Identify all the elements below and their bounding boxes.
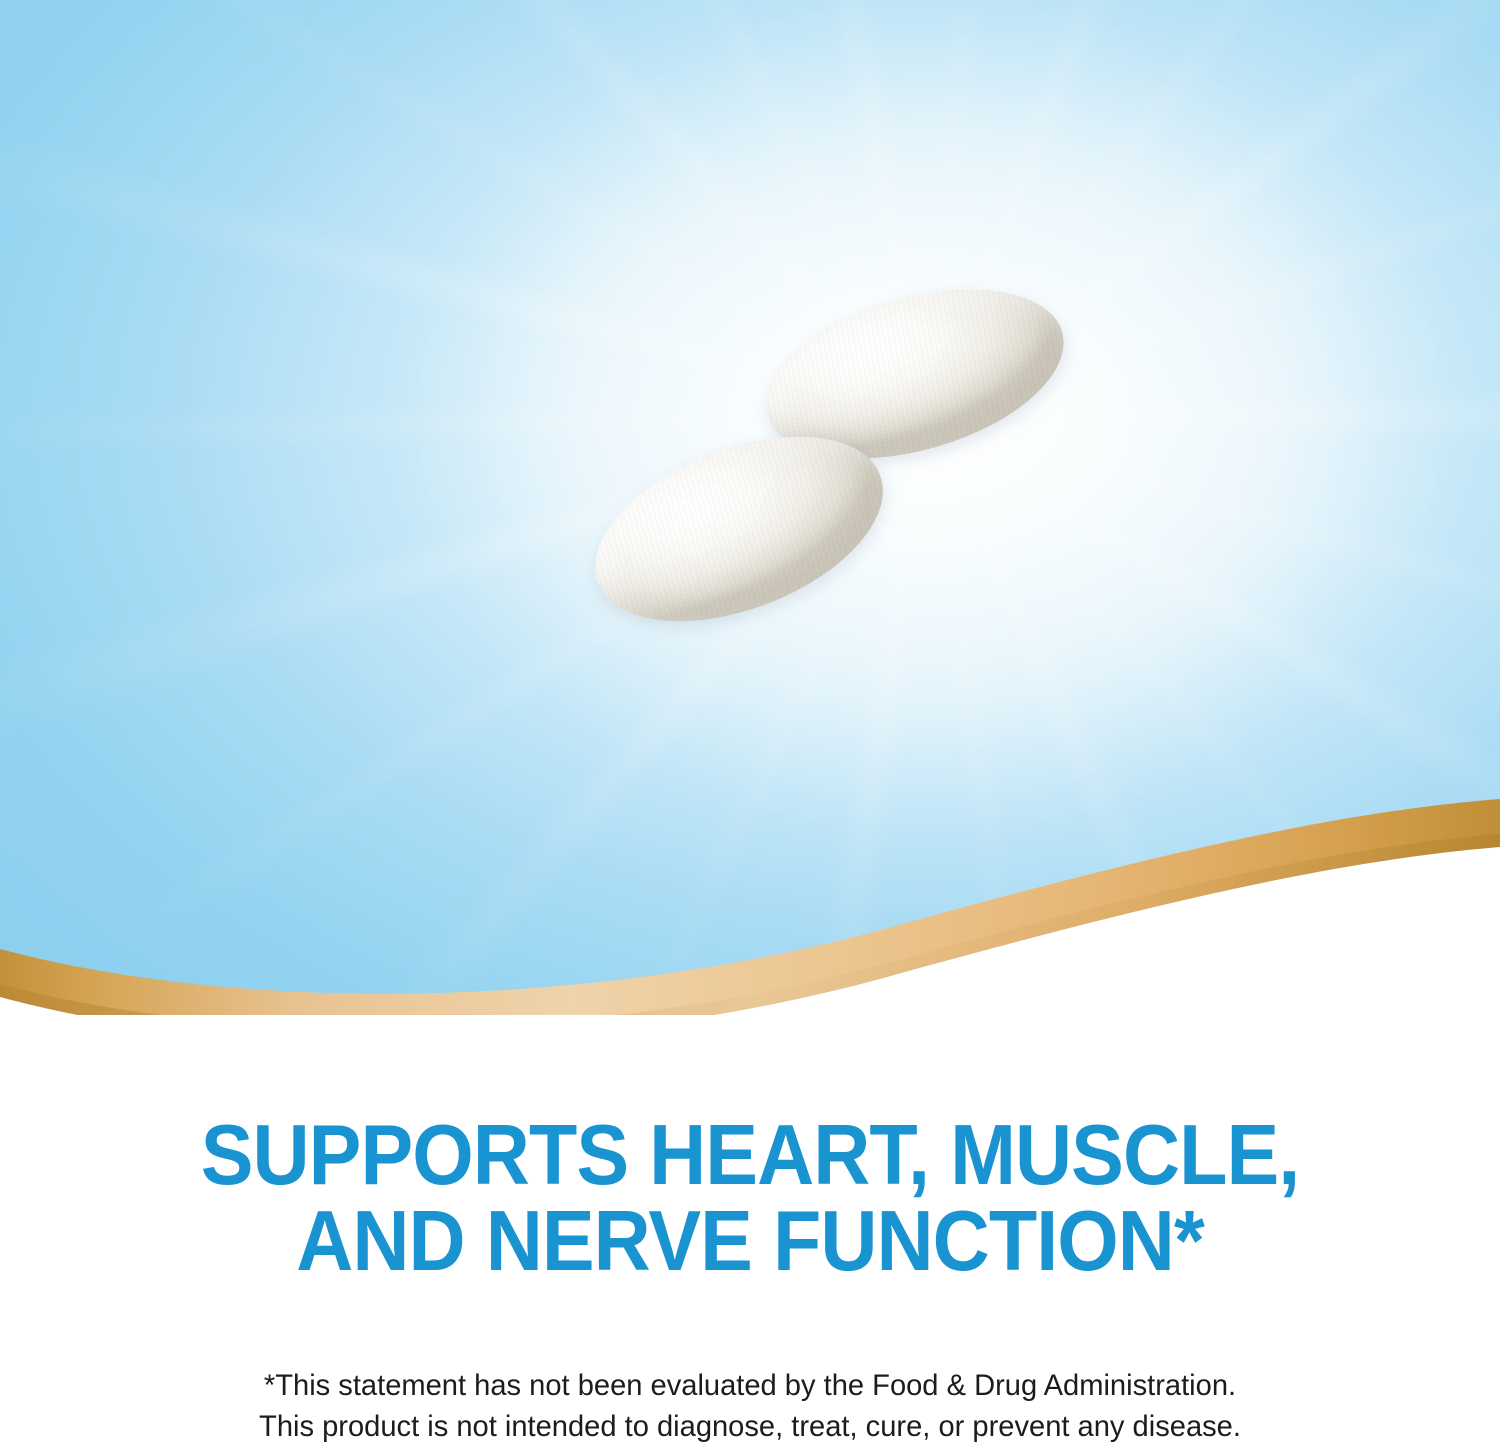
headline-line-1: SUPPORTS HEART, MUSCLE, [53, 1113, 1448, 1199]
disclaimer-line-2: This product is not intended to diagnose… [23, 1406, 1478, 1447]
product-marketing-image: SUPPORTS HEART, MUSCLE, AND NERVE FUNCTI… [0, 0, 1500, 1451]
headline: SUPPORTS HEART, MUSCLE, AND NERVE FUNCTI… [53, 1113, 1448, 1285]
disclaimer-line-1: *This statement has not been evaluated b… [23, 1365, 1478, 1406]
message-panel: SUPPORTS HEART, MUSCLE, AND NERVE FUNCTI… [0, 1015, 1500, 1451]
fda-disclaimer: *This statement has not been evaluated b… [23, 1365, 1478, 1447]
headline-line-2: AND NERVE FUNCTION* [53, 1199, 1448, 1285]
gold-wave-divider [0, 700, 1500, 1015]
hero-background [0, 0, 1500, 1015]
